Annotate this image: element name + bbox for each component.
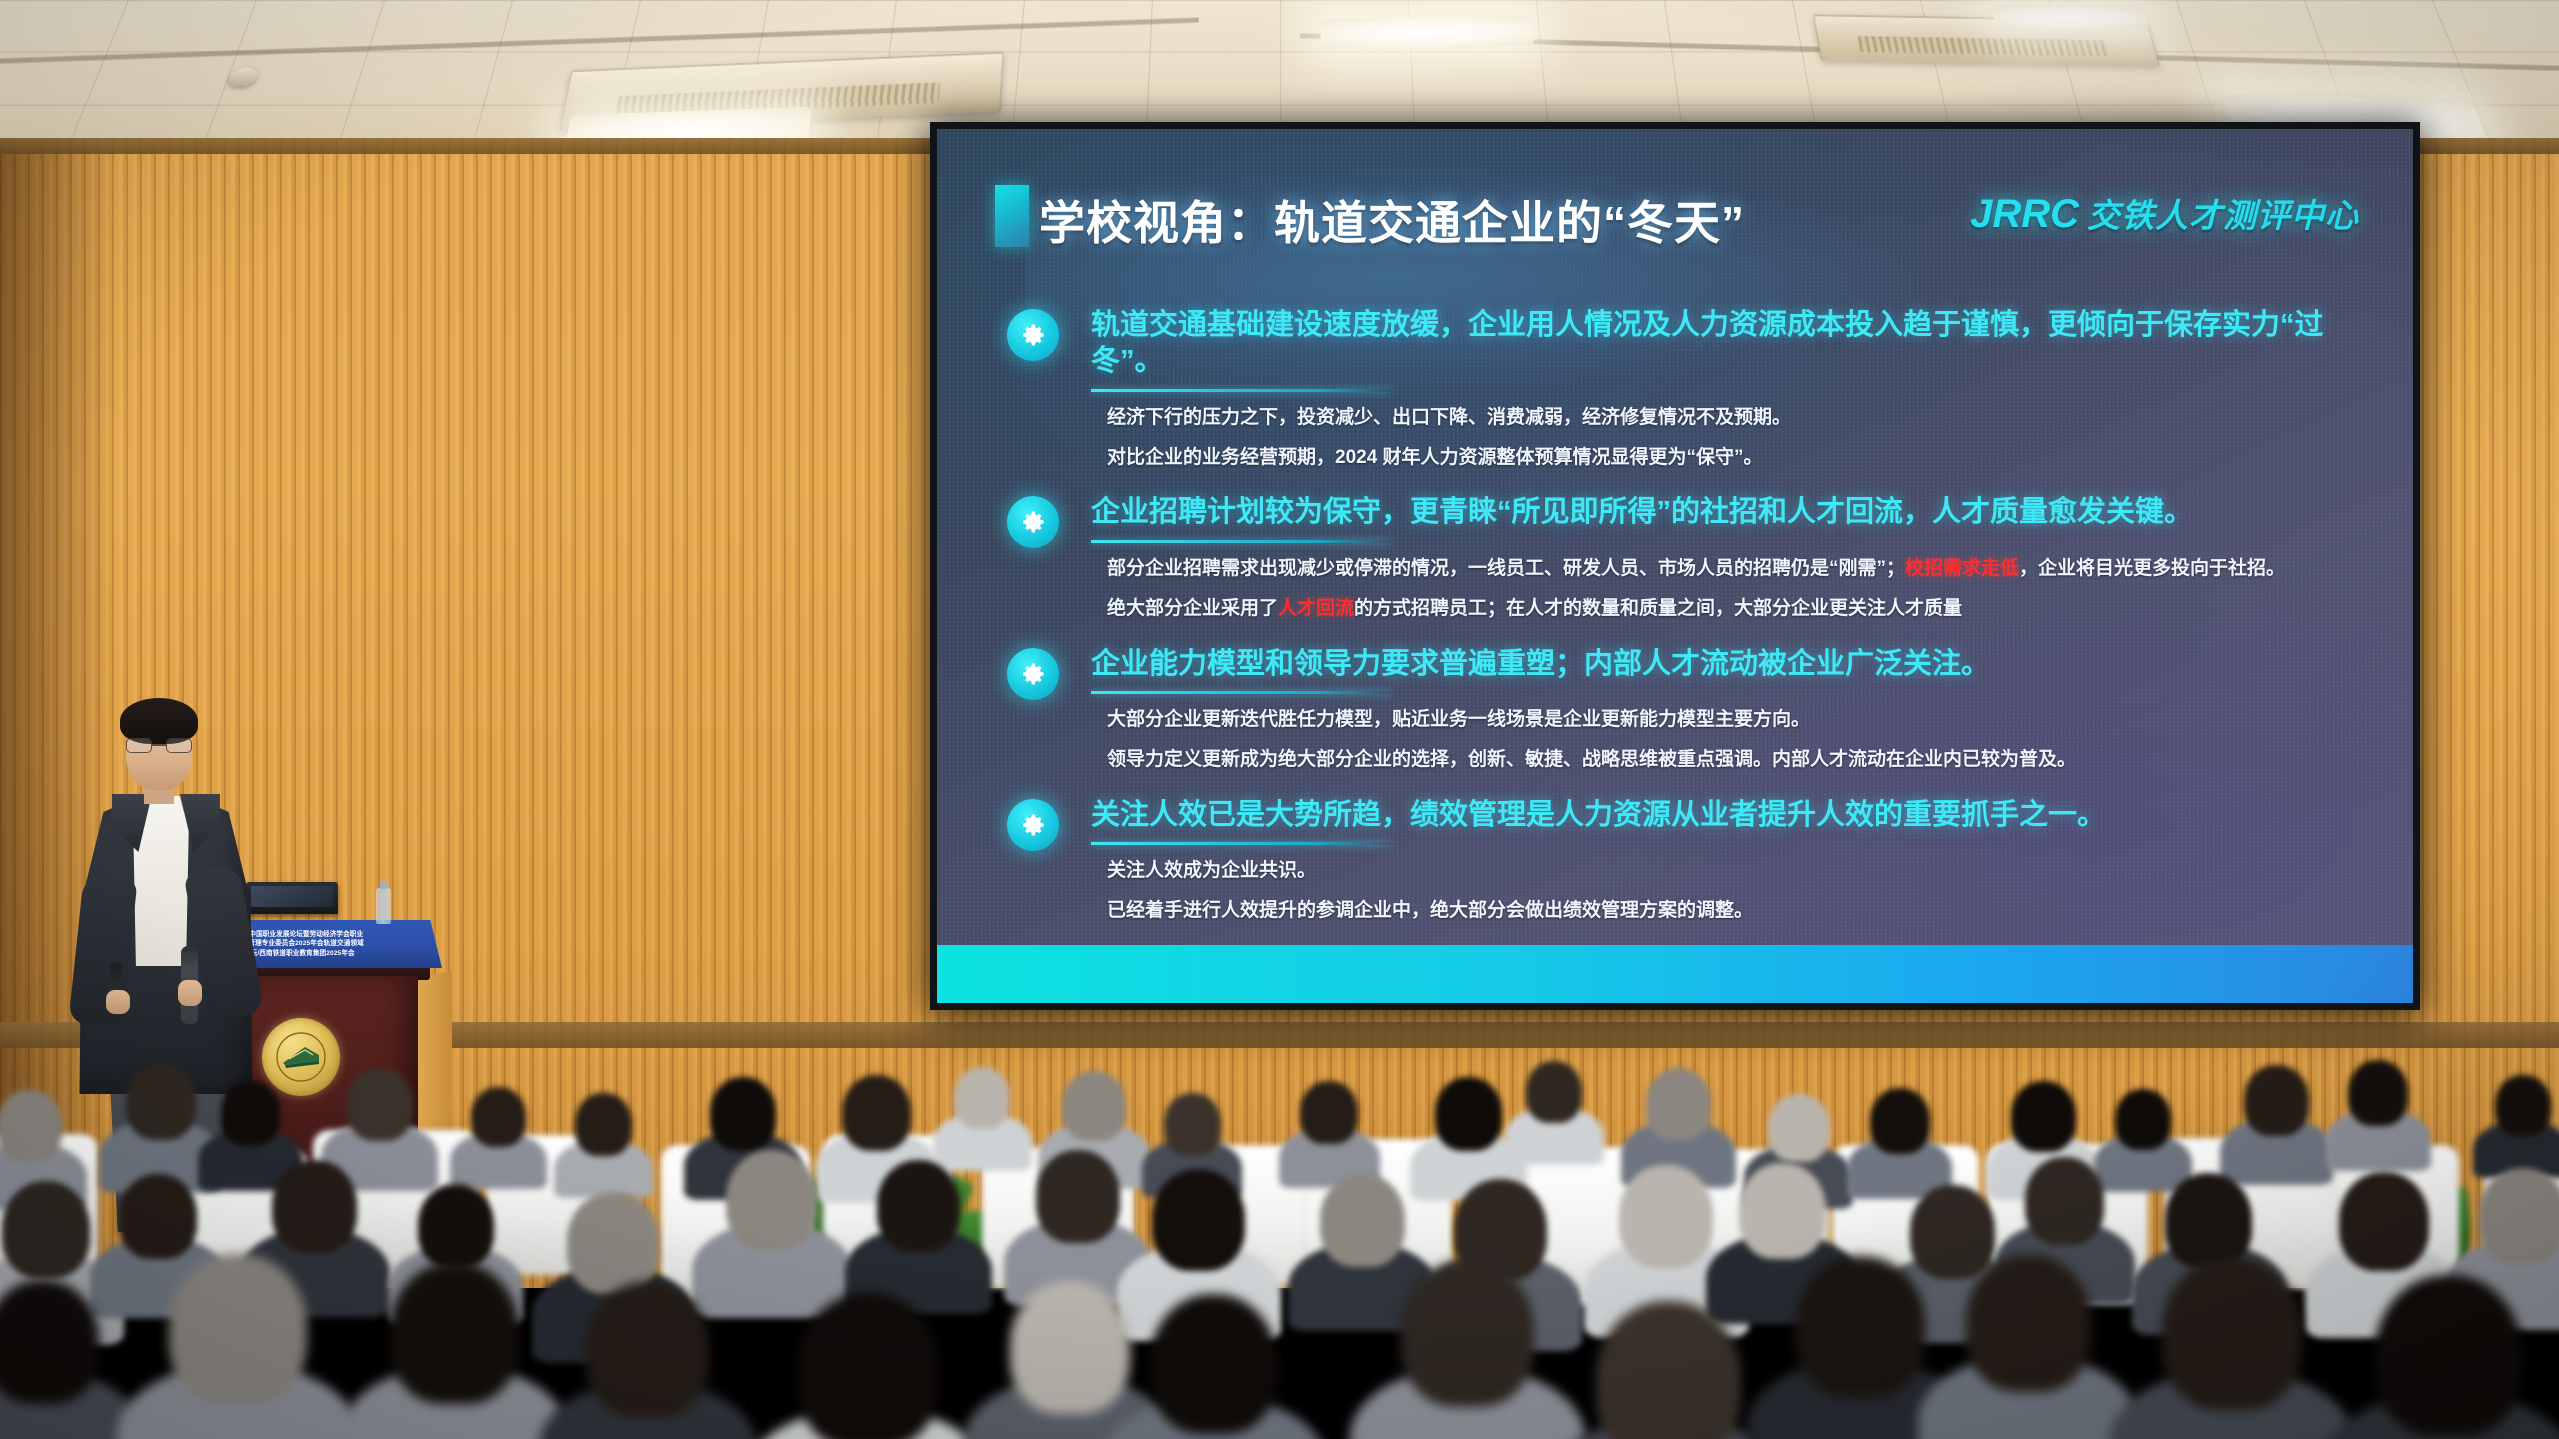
audience-head [221,1081,281,1147]
bullet-sub-line: 领导力定义更新成为绝大部分企业的选择，创新、敏捷、战略思维被重点强调。内部人才流… [1107,745,2363,774]
slide-title: 学校视角：轨道交通企业的“冬天” [1039,187,1745,253]
audience-member [2375,1275,2521,1439]
audience-member [797,1293,939,1439]
audience-member [575,1093,632,1189]
audience-head [1646,1068,1711,1140]
audience-head [1596,1301,1741,1439]
audience-member [1796,1256,1925,1439]
bullet-sub-line: 关注人效成为企业共识。 [1107,856,2363,885]
audience-head [1796,1256,1925,1398]
bullet-sub-line: 对比企业的业务经营预期，2024 财年人力资源整体预算情况显得更为“保守”。 [1107,443,2363,472]
bullet-underline [1091,842,1391,845]
audience-head [2339,1172,2429,1271]
audience-head [797,1293,939,1439]
audience-head [471,1087,526,1148]
slide-bullet: 轨道交通基础建设速度放缓，企业用人情况及人力资源成本投入趋于谨慎，更倾向于保存实… [1007,307,2363,472]
audience-member [1150,1294,1277,1439]
audience-head [1320,1174,1405,1267]
audience-head [2011,1081,2076,1152]
audience-head [2495,1075,2551,1137]
sub-text: 绝大部分企业采用了 [1107,598,1278,619]
audience-head [877,1160,961,1252]
glasses-lens-left [126,738,152,753]
audience-member [1010,1281,1130,1439]
audience-head [1036,1150,1120,1243]
gear-icon [1007,309,1059,361]
audience-head [390,1262,519,1404]
sub-text: 关注人效成为企业共识。 [1107,860,1316,881]
audience-member [390,1262,519,1439]
audience-head [1300,1081,1358,1144]
bullet-sub-line: 绝大部分企业采用了人才回流的方式招聘员工；在人才的数量和质量之间，大部分企业更关… [1107,594,2363,623]
audience-head [1870,1088,1930,1154]
ceiling-light [1991,6,2149,30]
audience-head [2025,1157,2104,1244]
gear-icon [1007,799,1059,851]
slide-bullet: 关注人效已是大势所趋，绩效管理是人力资源从业者提升人效的重要抓手之一。关注人效成… [1007,797,2363,926]
audience-head [2479,1168,2559,1264]
audience-head [2244,1065,2308,1136]
gear-icon [1007,648,1059,700]
bullet-heading: 企业能力模型和领导力要求普遍重塑；内部人才流动被企业广泛关注。 [1091,646,1990,682]
audience-head [2,1181,90,1278]
slide-bullet: 企业招聘计划较为保守，更青睐“所见即所得”的社招和人才回流，人才质量愈发关键。部… [1007,494,2363,623]
audience-member [1526,1061,1582,1157]
audience-head [2348,1060,2408,1126]
audience-head [347,1068,413,1141]
logo-chinese: 交铁人才测评中心 [2087,197,2359,234]
audience-head [1966,1255,2091,1393]
ceiling-beam [0,18,1199,65]
gear-icon [1007,496,1059,548]
slide-bottom-band [937,945,2413,1003]
audience [0,1009,2559,1439]
audience-member [586,1282,709,1439]
sub-text: 对比企业的业务经营预期，2024 财年人力资源整体预算情况显得更为“保守”。 [1107,447,1763,468]
slide-body: 轨道交通基础建设速度放缓，企业用人情况及人力资源成本投入趋于谨慎，更倾向于保存实… [1007,307,2363,948]
audience-head [1062,1071,1126,1142]
lecture-hall-scene: 学校视角：轨道交通企业的“冬天” JRRC交铁人才测评中心 轨道交通基础建设速度… [0,0,2559,1439]
audience-member [1435,1077,1502,1191]
water-bottle [376,888,391,924]
bullet-underline [1091,691,1391,694]
audience-member [1036,1150,1120,1293]
audience-head [0,1090,62,1162]
audience-head [710,1077,777,1150]
audience-head [726,1150,817,1250]
audience-member [1596,1301,1741,1439]
audience-member [2162,1257,2302,1439]
audience-member [2115,1089,2171,1184]
sub-text: 部分企业招聘需求出现减少或停滞的情况，一线员工、研发人员、市场人员的招聘仍是“刚… [1107,558,1905,579]
bullet-sub-line: 已经着手进行人效提升的参调企业中，绝大部分会做出绩效管理方案的调整。 [1107,896,2363,925]
slide-header: 学校视角：轨道交通企业的“冬天” JRRC交铁人才测评中心 [995,191,2365,257]
sub-text: ，企业将目光更多投向于社招。 [2019,558,2285,579]
audience-head [1768,1094,1830,1162]
presentation-screen: 学校视角：轨道交通企业的“冬天” JRRC交铁人才测评中心 轨道交通基础建设速度… [930,122,2420,1010]
audience-head [1401,1260,1534,1407]
audience-head [1619,1165,1713,1268]
audience-head [842,1075,911,1151]
audience-head [126,1064,196,1141]
sub-text: 领导力定义更新成为绝大部分企业的选择，创新、敏捷、战略思维被重点强调。内部人才流… [1107,749,2076,770]
bullet-underline [1091,389,1391,392]
audience-member [954,1067,1010,1163]
audience-member [1320,1174,1405,1318]
audience-member [2348,1060,2408,1162]
speaker-hand-right [178,980,202,1006]
audience-member [169,1254,306,1439]
audience-head [1435,1077,1502,1151]
highlighted-text: 校招需求走低 [1905,558,2019,579]
bullet-sub-line: 大部分企业更新迭代胜任力模型，贴近业务一线场景是企业更新能力模型主要方向。 [1107,705,2363,734]
audience-head [2165,1173,2252,1269]
audience-head [2162,1257,2302,1411]
audience-head [2115,1089,2171,1150]
audience-member [471,1087,526,1181]
audience-head [2375,1275,2521,1436]
bullet-sub-line: 部分企业招聘需求出现减少或停滞的情况，一线员工、研发人员、市场人员的招聘仍是“刚… [1107,554,2363,583]
slide-bullet: 企业能力模型和领导力要求普遍重塑；内部人才流动被企业广泛关注。大部分企业更新迭代… [1007,646,2363,775]
audience-head [0,1280,99,1404]
sub-text: 已经着手进行人效提升的参调企业中，绝大部分会做出绩效管理方案的调整。 [1107,900,1753,921]
jrrc-logo: JRRC交铁人才测评中心 [1970,189,2359,237]
audience-head [575,1093,632,1155]
audience-member [2495,1075,2551,1170]
sub-text: 大部分企业更新迭代胜任力模型，贴近业务一线场景是企业更新能力模型主要方向。 [1107,709,1810,730]
logo-abbr: JRRC [1970,192,2079,236]
bullet-sub-line: 经济下行的压力之下，投资减少、出口下降、消费减弱，经济修复情况不及预期。 [1107,403,2363,432]
audience-head [119,1174,197,1260]
bullet-underline [1091,540,1391,543]
audience-head [1150,1294,1277,1434]
glasses-lens-right [166,738,192,753]
audience-head [272,1160,357,1254]
audience-member [1300,1081,1358,1179]
audience-head [1010,1281,1130,1413]
bullet-heading: 轨道交通基础建设速度放缓，企业用人情况及人力资源成本投入趋于谨慎，更倾向于保存实… [1091,307,2363,380]
glasses-icon [126,738,192,753]
audience-member [0,1280,99,1439]
smoke-detector-icon [227,68,260,86]
audience-head [586,1282,709,1418]
sub-text: 经济下行的压力之下，投资减少、出口下降、消费减弱，经济修复情况不及预期。 [1107,407,1791,428]
audience-head [1152,1169,1245,1272]
audience-head [567,1192,659,1293]
ceiling-light [1320,16,1534,49]
audience-member [1401,1260,1534,1439]
audience-member [2244,1065,2308,1175]
audience-member [1966,1255,2091,1439]
audience-member [1646,1068,1711,1179]
audience-member [726,1150,817,1305]
title-accent-block [995,185,1029,247]
sub-text: 的方式招聘员工；在人才的数量和质量之间，大部分企业更关注人才质量 [1354,598,1962,619]
highlighted-text: 人才回流 [1278,598,1354,619]
audience-head [418,1184,495,1268]
audience-member [1870,1088,1930,1190]
slide: 学校视角：轨道交通企业的“冬天” JRRC交铁人才测评中心 轨道交通基础建设速度… [937,129,2413,1003]
bullet-heading: 关注人效已是大势所趋，绩效管理是人力资源从业者提升人效的重要抓手之一。 [1091,797,2106,833]
bullet-heading: 企业招聘计划较为保守，更青睐“所见即所得”的社招和人才回流，人才质量愈发关键。 [1091,494,2193,530]
audience-head [169,1254,306,1405]
audience-head [1526,1061,1582,1123]
glasses-bridge [152,744,166,746]
audience-member [126,1064,196,1183]
audience-head [954,1067,1010,1129]
audience-head [1739,1163,1826,1259]
audience-member [877,1160,961,1302]
audience-head [1164,1093,1221,1156]
